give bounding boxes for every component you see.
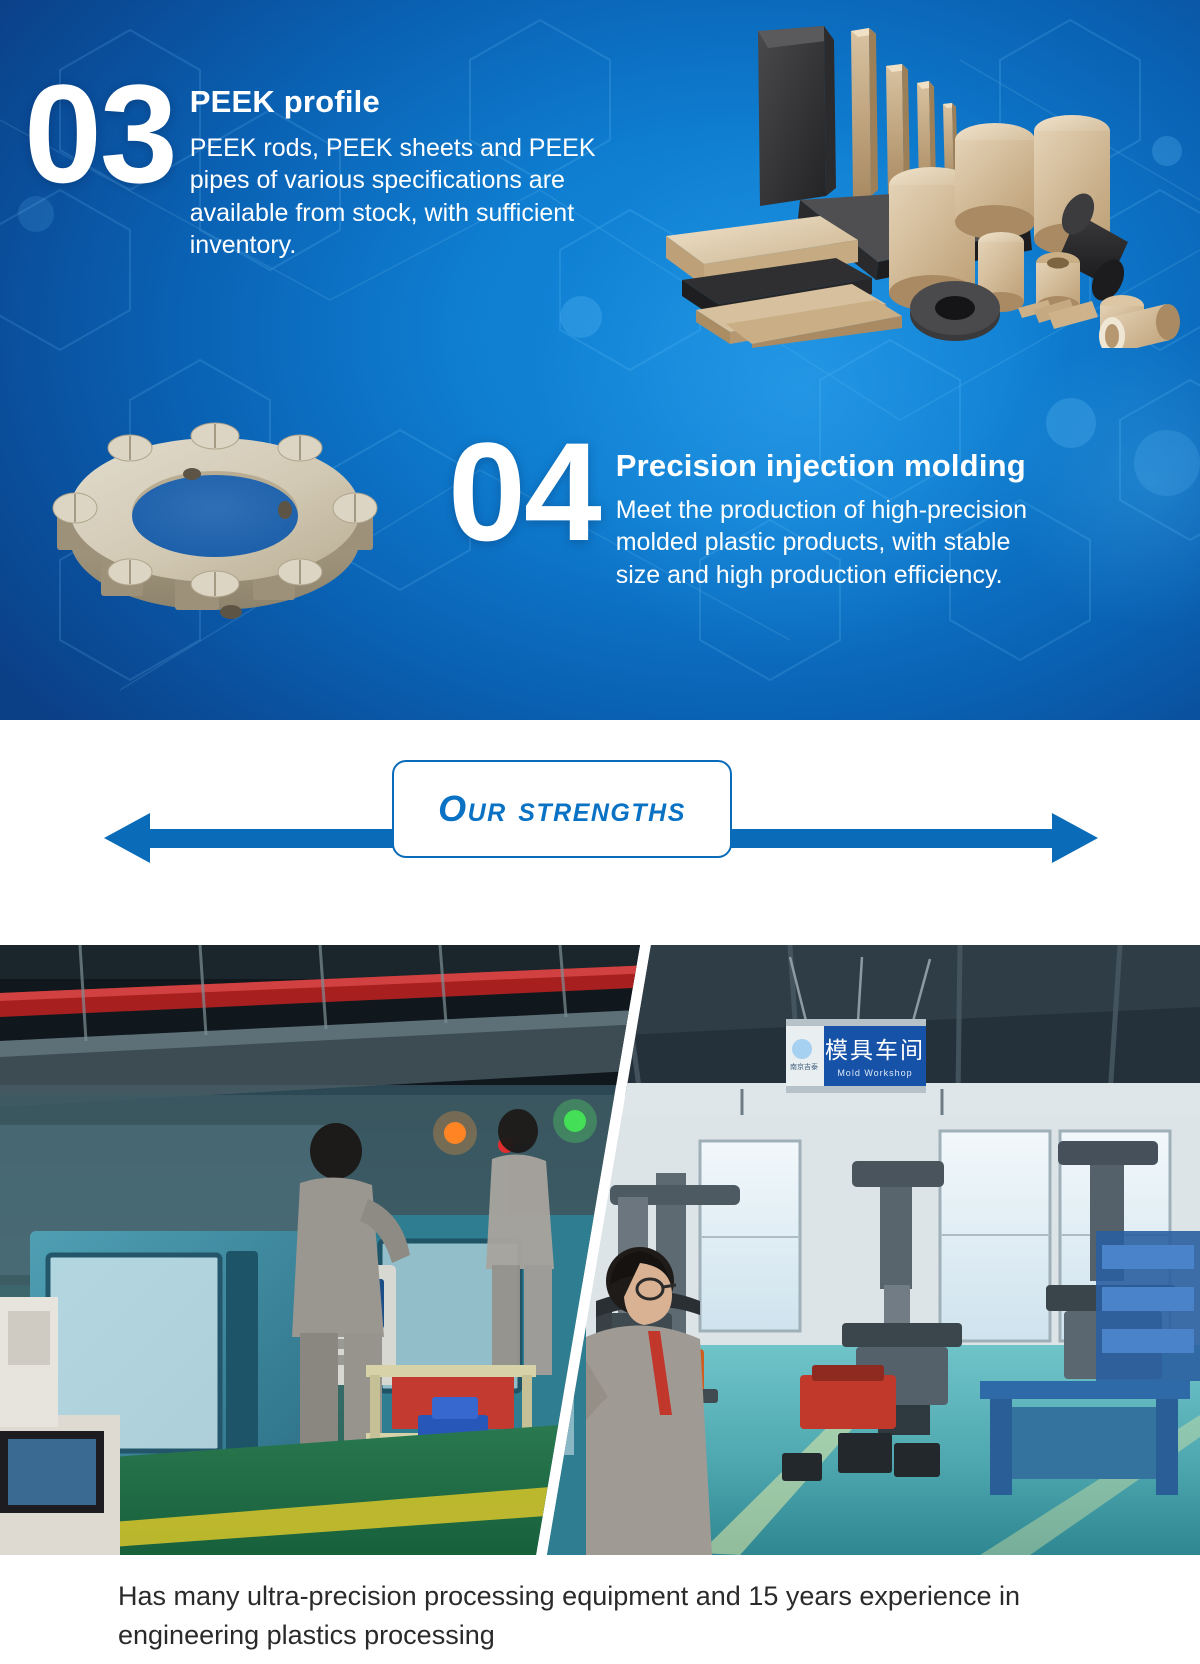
- svg-text:南京吉泰: 南京吉泰: [790, 1062, 818, 1071]
- feature-title-03: PEEK profile: [190, 84, 610, 120]
- feature-body-04: Meet the production of high-precision mo…: [616, 494, 1036, 591]
- decor-dot: [560, 296, 602, 338]
- peek-profile-product-image: [630, 18, 1190, 348]
- feature-title-04: Precision injection molding: [616, 448, 1036, 484]
- caption-text: Has many ultra-precision processing equi…: [118, 1577, 1038, 1654]
- strengths-title: Our strengths: [438, 788, 686, 830]
- caption-block: Has many ultra-precision processing equi…: [0, 1555, 1200, 1654]
- feature-number-04: 04: [448, 428, 600, 591]
- feature-item-04: 04 Precision injection molding Meet the …: [448, 428, 1148, 591]
- svg-text:模具车间: 模具车间: [825, 1037, 925, 1063]
- hero-panel: 03 PEEK profile PEEK rods, PEEK sheets a…: [0, 0, 1200, 720]
- arrow-bar-right: [722, 829, 1052, 848]
- strengths-title-box: Our strengths: [392, 760, 732, 858]
- precision-molded-ring-image: [35, 390, 395, 640]
- feature-item-03: 03 PEEK profile PEEK rods, PEEK sheets a…: [24, 70, 664, 261]
- feature-number-03: 03: [24, 70, 176, 261]
- factory-photo-strip: 南京吉泰 模具车间 Mold Workshop: [0, 945, 1200, 1555]
- svg-text:Mold Workshop: Mold Workshop: [837, 1068, 912, 1078]
- arrow-head-right-icon: [1052, 813, 1098, 863]
- feature-body-03: PEEK rods, PEEK sheets and PEEK pipes of…: [190, 132, 610, 261]
- arrow-head-left-icon: [104, 813, 150, 863]
